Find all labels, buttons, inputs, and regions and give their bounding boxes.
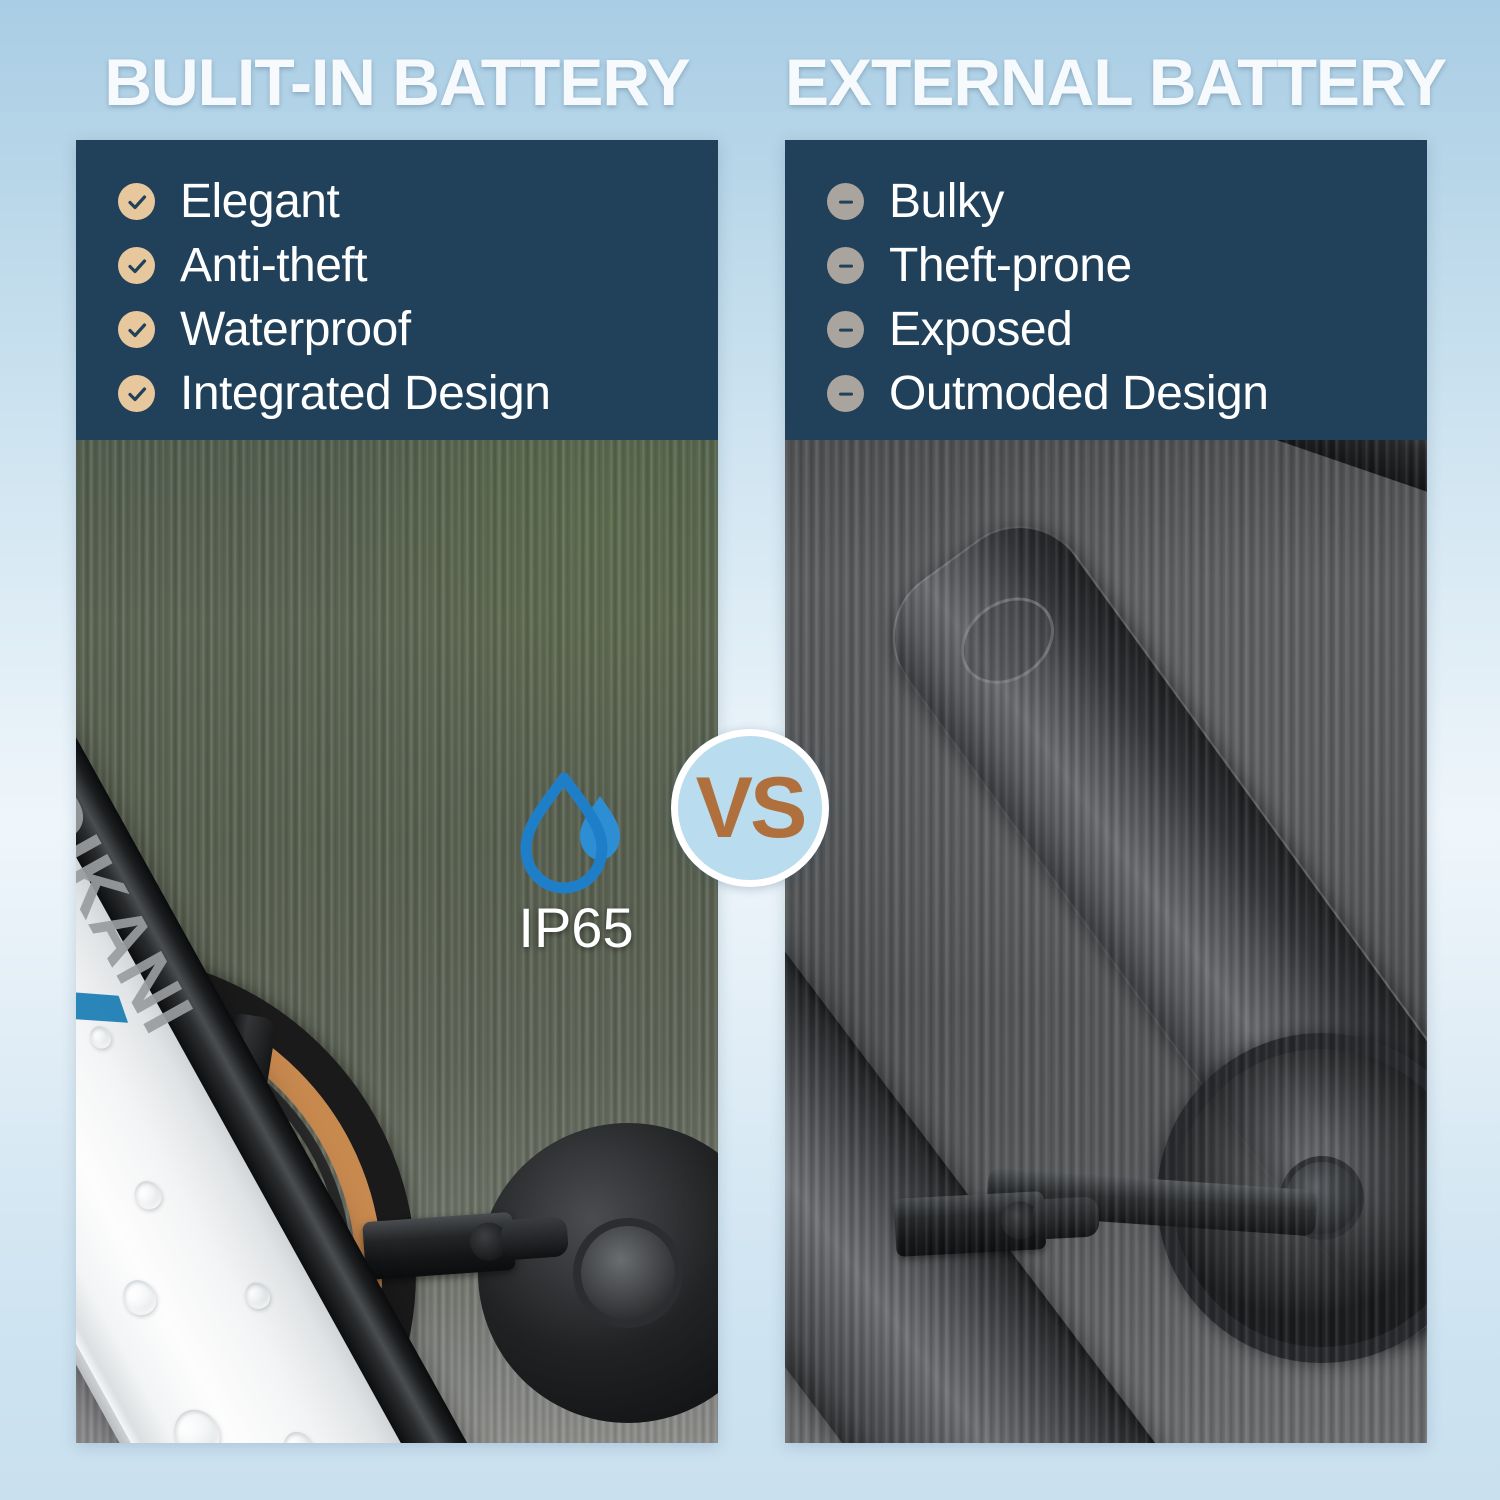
vs-label: VS bbox=[696, 765, 805, 851]
vs-badge: VS bbox=[671, 729, 829, 887]
water-droplet bbox=[240, 1278, 274, 1313]
bicycle-pedal bbox=[362, 1212, 516, 1280]
list-item: Elegant bbox=[118, 170, 718, 233]
feature-label: Exposed bbox=[889, 306, 1072, 354]
list-item: Outmoded Design bbox=[827, 362, 1427, 425]
mid-drive-motor bbox=[478, 1123, 718, 1423]
water-droplet bbox=[130, 1176, 167, 1214]
feature-label: Theft-prone bbox=[889, 242, 1132, 290]
feature-label: Elegant bbox=[180, 178, 339, 226]
feature-label: Outmoded Design bbox=[889, 370, 1268, 418]
minus-circle-icon bbox=[827, 311, 864, 348]
bicycle-pedal bbox=[894, 1191, 1047, 1257]
water-droplet bbox=[165, 1401, 227, 1443]
bicycle-top-tube bbox=[785, 440, 1427, 592]
ip65-label: IP65 bbox=[466, 900, 686, 956]
water-droplet bbox=[278, 1427, 318, 1443]
check-circle-icon bbox=[118, 375, 155, 412]
right-feature-header: Bulky Theft-prone bbox=[785, 140, 1427, 440]
check-circle-icon bbox=[118, 311, 155, 348]
list-item: Anti-theft bbox=[118, 234, 718, 297]
feature-label: Integrated Design bbox=[180, 370, 550, 418]
built-in-battery-photo: EDIKANI bbox=[76, 440, 718, 1443]
water-droplet bbox=[117, 1274, 162, 1321]
feature-label: Waterproof bbox=[180, 306, 411, 354]
left-feature-list: Elegant Anti-theft bbox=[76, 170, 718, 425]
feature-label: Bulky bbox=[889, 178, 1004, 226]
check-circle-icon bbox=[118, 183, 155, 220]
minus-circle-icon bbox=[827, 247, 864, 284]
feature-label: Anti-theft bbox=[180, 242, 367, 290]
minus-circle-icon bbox=[827, 183, 864, 220]
list-item: Theft-prone bbox=[827, 234, 1427, 297]
pedal-cap bbox=[469, 1221, 510, 1262]
list-item: Waterproof bbox=[118, 298, 718, 361]
check-circle-icon bbox=[118, 247, 155, 284]
external-battery-panel: Bulky Theft-prone bbox=[785, 140, 1427, 1443]
list-item: Integrated Design bbox=[118, 362, 718, 425]
built-in-battery-panel: Elegant Anti-theft bbox=[76, 140, 718, 1443]
battery-lock-notch bbox=[944, 580, 1071, 702]
right-feature-list: Bulky Theft-prone bbox=[785, 170, 1427, 425]
list-item: Bulky bbox=[827, 170, 1427, 233]
water-drop-icon bbox=[516, 770, 636, 898]
comparison-infographic: BULIT-IN BATTERY EXTERNAL BATTERY Elegan… bbox=[0, 0, 1500, 1500]
motor-cap bbox=[573, 1218, 683, 1328]
external-battery-photo bbox=[785, 440, 1427, 1443]
pedal-cap bbox=[1000, 1200, 1040, 1240]
list-item: Exposed bbox=[827, 298, 1427, 361]
left-feature-header: Elegant Anti-theft bbox=[76, 140, 718, 440]
left-column-title: BULIT-IN BATTERY bbox=[76, 42, 718, 122]
right-column-title: EXTERNAL BATTERY bbox=[785, 42, 1427, 122]
ip65-badge: IP65 bbox=[466, 770, 686, 956]
minus-circle-icon bbox=[827, 375, 864, 412]
